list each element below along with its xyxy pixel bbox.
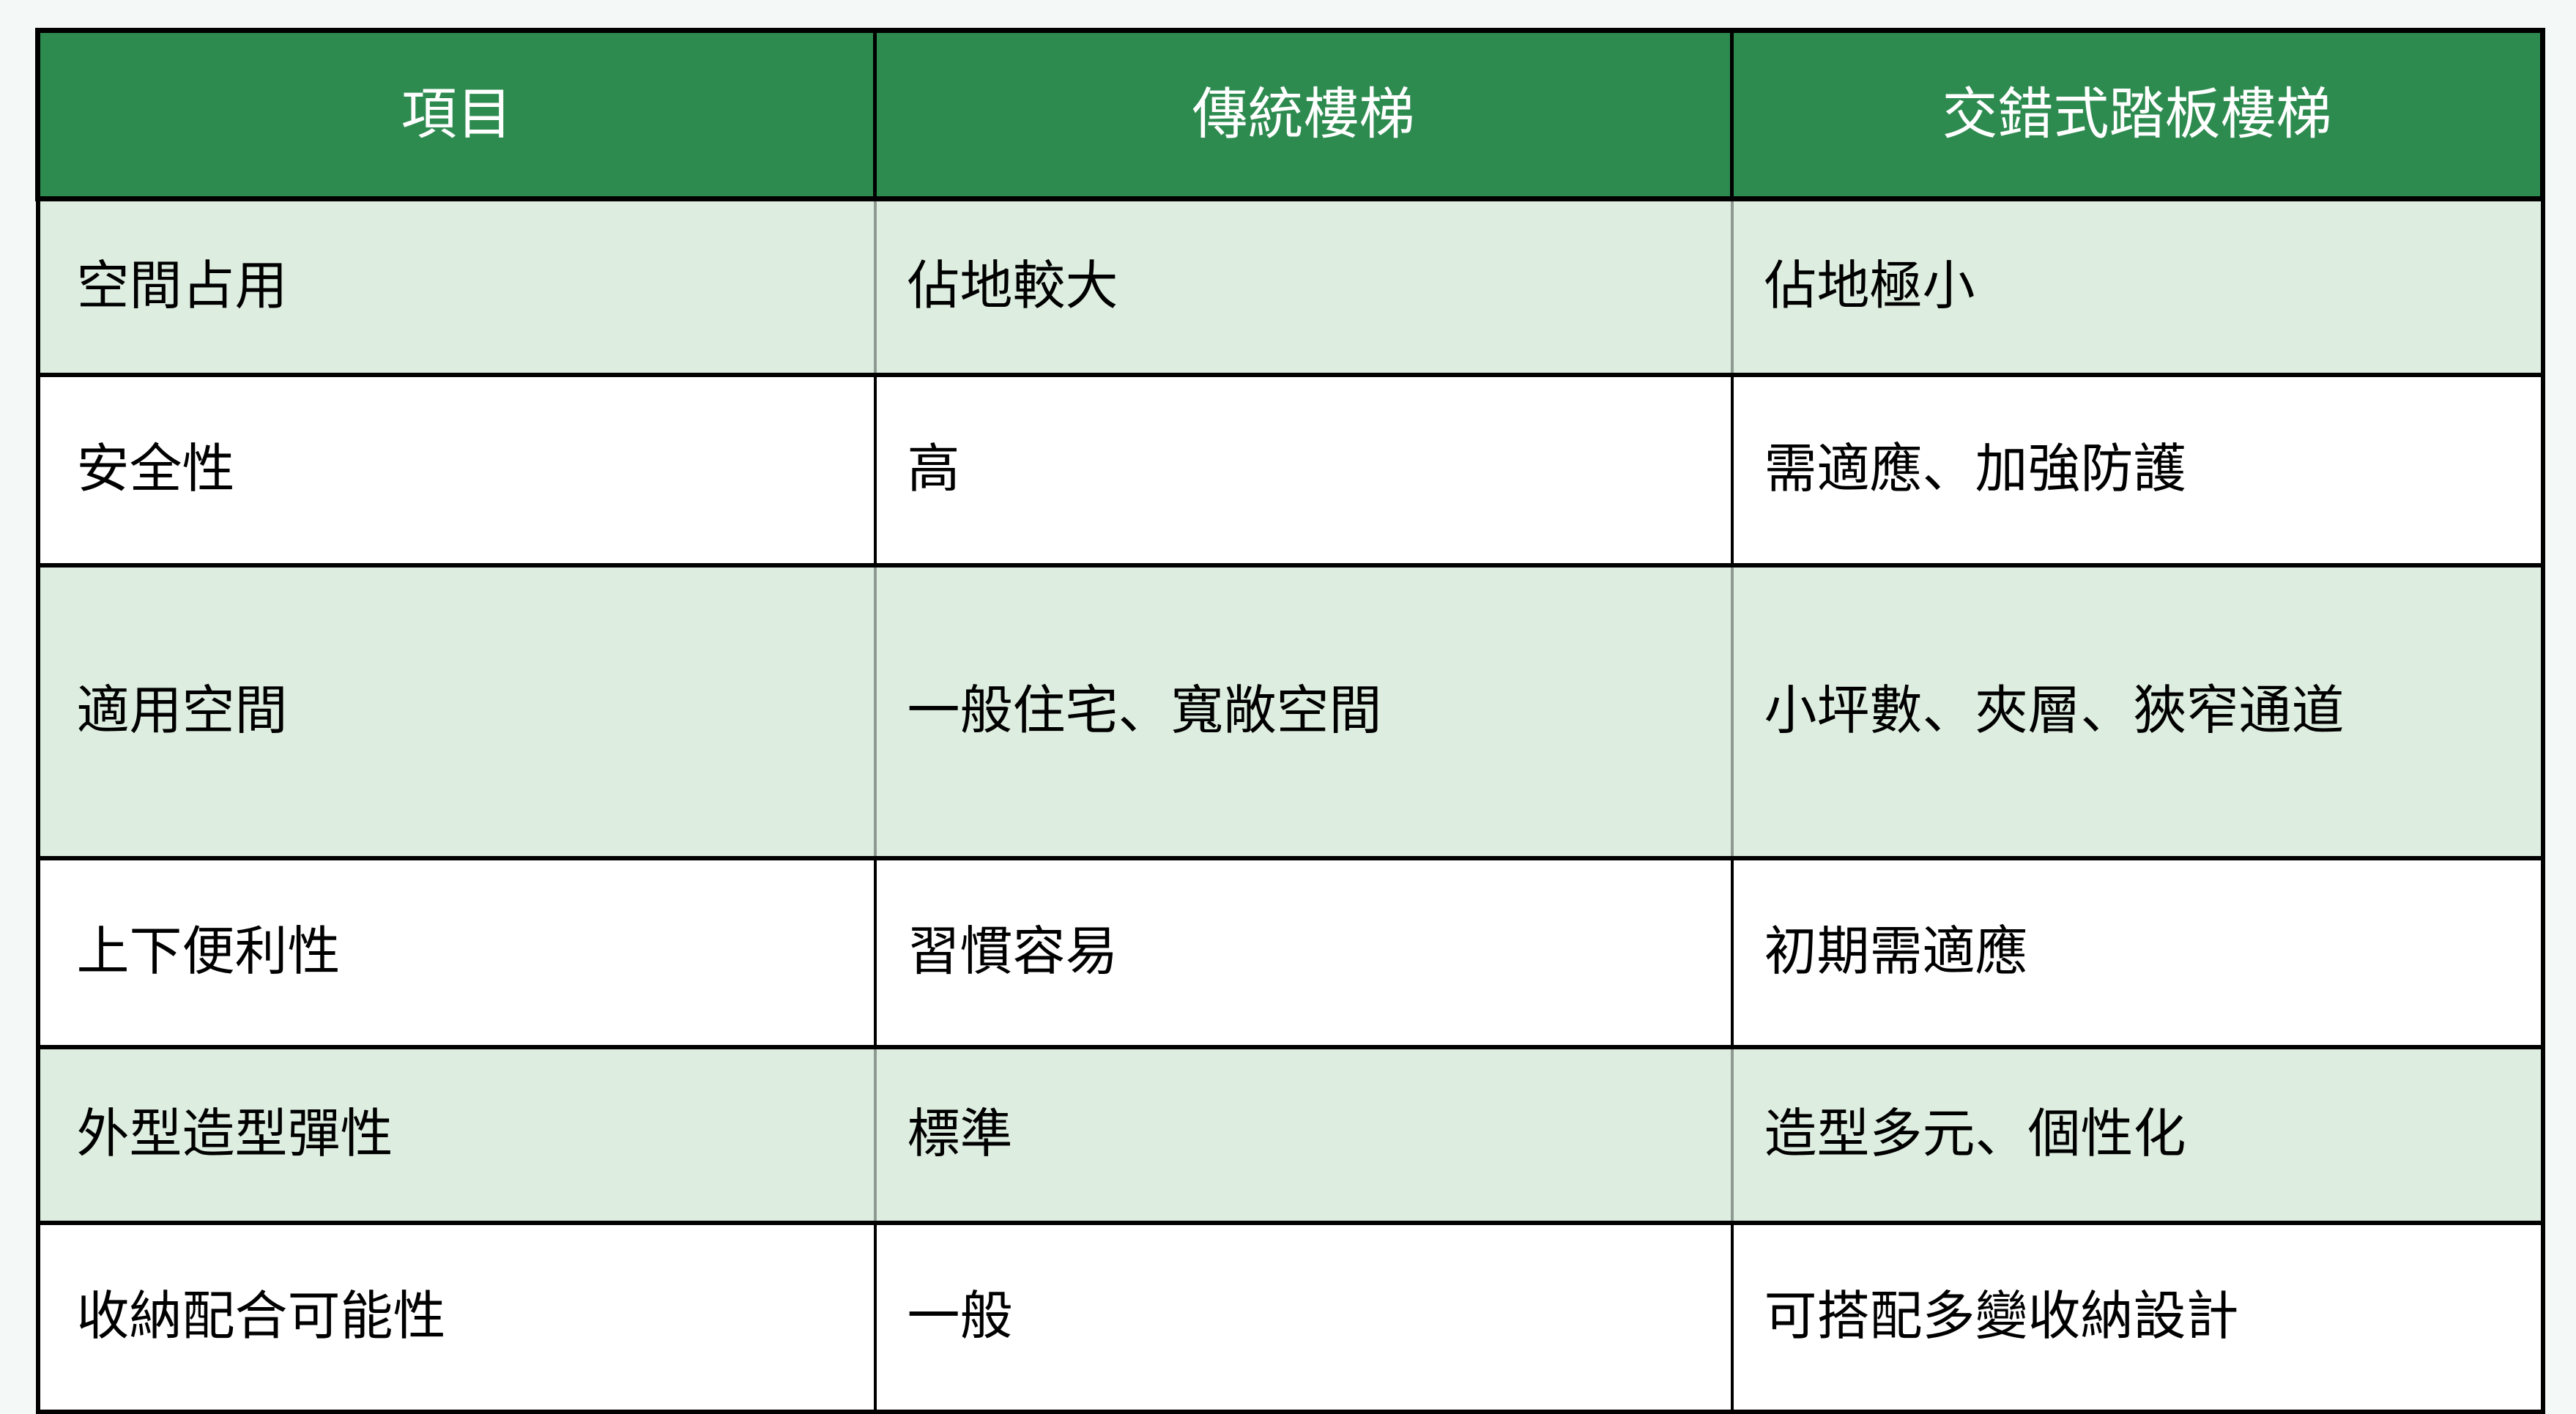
table-row: 空間占用 佔地較大 佔地極小 [38,199,2543,375]
column-header-alternating-tread-stairs: 交錯式踏板樓梯 [1732,31,2543,199]
cell-item: 安全性 [38,375,875,565]
cell-item: 適用空間 [38,565,875,858]
cell-item: 收納配合可能性 [38,1223,875,1412]
comparison-table-container: 項目 傳統樓梯 交錯式踏板樓梯 空間占用 佔地較大 佔地極小 安全性 高 需適應… [35,28,2540,1381]
stair-comparison-table: 項目 傳統樓梯 交錯式踏板樓梯 空間占用 佔地較大 佔地極小 安全性 高 需適應… [35,28,2545,1414]
cell-alternating: 佔地極小 [1732,199,2543,375]
cell-alternating: 需適應、加強防護 [1732,375,2543,565]
cell-traditional: 習慣容易 [875,858,1732,1047]
cell-traditional: 一般 [875,1223,1732,1412]
table-body: 空間占用 佔地較大 佔地極小 安全性 高 需適應、加強防護 適用空間 一般住宅、… [38,199,2543,1412]
cell-item: 上下便利性 [38,858,875,1047]
table-row: 適用空間 一般住宅、寬敞空間 小坪數、夾層、狹窄通道 [38,565,2543,858]
cell-alternating: 造型多元、個性化 [1732,1047,2543,1223]
cell-traditional: 佔地較大 [875,199,1732,375]
column-header-item: 項目 [38,31,875,199]
cell-item: 空間占用 [38,199,875,375]
cell-alternating: 可搭配多變收納設計 [1732,1223,2543,1412]
table-header: 項目 傳統樓梯 交錯式踏板樓梯 [38,31,2543,199]
table-row: 上下便利性 習慣容易 初期需適應 [38,858,2543,1047]
table-row: 外型造型彈性 標準 造型多元、個性化 [38,1047,2543,1223]
cell-alternating: 初期需適應 [1732,858,2543,1047]
cell-item: 外型造型彈性 [38,1047,875,1223]
table-header-row: 項目 傳統樓梯 交錯式踏板樓梯 [38,31,2543,199]
column-header-traditional-stairs: 傳統樓梯 [875,31,1732,199]
table-row: 收納配合可能性 一般 可搭配多變收納設計 [38,1223,2543,1412]
cell-traditional: 一般住宅、寬敞空間 [875,565,1732,858]
table-row: 安全性 高 需適應、加強防護 [38,375,2543,565]
cell-traditional: 高 [875,375,1732,565]
cell-alternating: 小坪數、夾層、狹窄通道 [1732,565,2543,858]
cell-traditional: 標準 [875,1047,1732,1223]
